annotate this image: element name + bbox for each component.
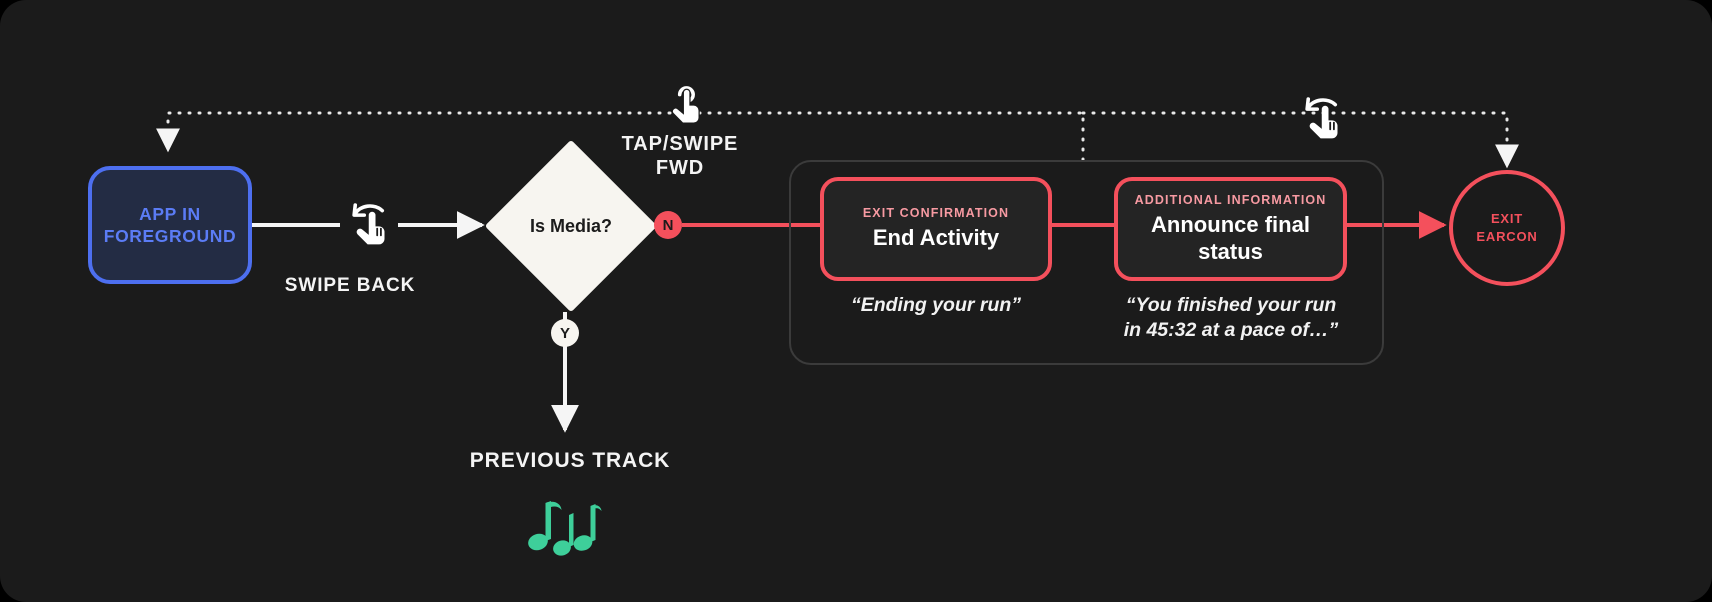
card-exit-kicker: EXIT CONFIRMATION <box>863 206 1009 220</box>
tap-gesture-icon <box>665 78 711 135</box>
card-info-title-line1: Announce final <box>1151 212 1310 238</box>
wire-return-to-earcon <box>1083 113 1507 166</box>
diagram-canvas: APP IN FOREGROUND SWIPE BACK Is Media? N… <box>0 0 1712 602</box>
earcon-line1: EXIT <box>1476 210 1537 228</box>
quote-end-activity: “Ending your run” <box>820 293 1052 318</box>
card-exit-title: End Activity <box>873 225 999 251</box>
app-node-label: APP IN FOREGROUND <box>104 203 236 248</box>
badge-yes: Y <box>551 319 579 347</box>
earcon-label: EXIT EARCON <box>1476 210 1537 245</box>
card-info-title-line2: status <box>1151 239 1310 265</box>
card-additional-information[interactable]: ADDITIONAL INFORMATION Announce final st… <box>1114 177 1347 281</box>
quote-final-status: “You finished your run in 45:32 at a pac… <box>1102 293 1360 343</box>
quote-final-status-line1: “You finished your run <box>1102 293 1360 318</box>
quote-final-status-line2: in 45:32 at a pace of…” <box>1102 318 1360 343</box>
app-node-line2: FOREGROUND <box>104 225 236 247</box>
swipe-back-gesture-icon <box>344 196 398 255</box>
badge-no: N <box>654 211 682 239</box>
card-info-title: Announce final status <box>1151 212 1310 265</box>
earcon-line2: EARCON <box>1476 228 1537 246</box>
label-tap-line1: TAP/SWIPE <box>575 132 785 156</box>
app-node-line1: APP IN <box>104 203 236 225</box>
label-previous-track: PREVIOUS TRACK <box>400 448 740 473</box>
card-info-kicker: ADDITIONAL INFORMATION <box>1135 193 1327 207</box>
node-app-in-foreground[interactable]: APP IN FOREGROUND <box>88 166 252 284</box>
label-tap-swipe-fwd: TAP/SWIPE FWD <box>575 132 785 180</box>
card-exit-confirmation[interactable]: EXIT CONFIRMATION End Activity <box>820 177 1052 281</box>
label-tap-line2: FWD <box>575 156 785 180</box>
node-exit-earcon[interactable]: EXIT EARCON <box>1449 170 1565 286</box>
label-swipe-back: SWIPE BACK <box>255 275 445 298</box>
swipe-gesture-icon <box>1297 90 1351 149</box>
music-notes-icon <box>527 495 603 562</box>
